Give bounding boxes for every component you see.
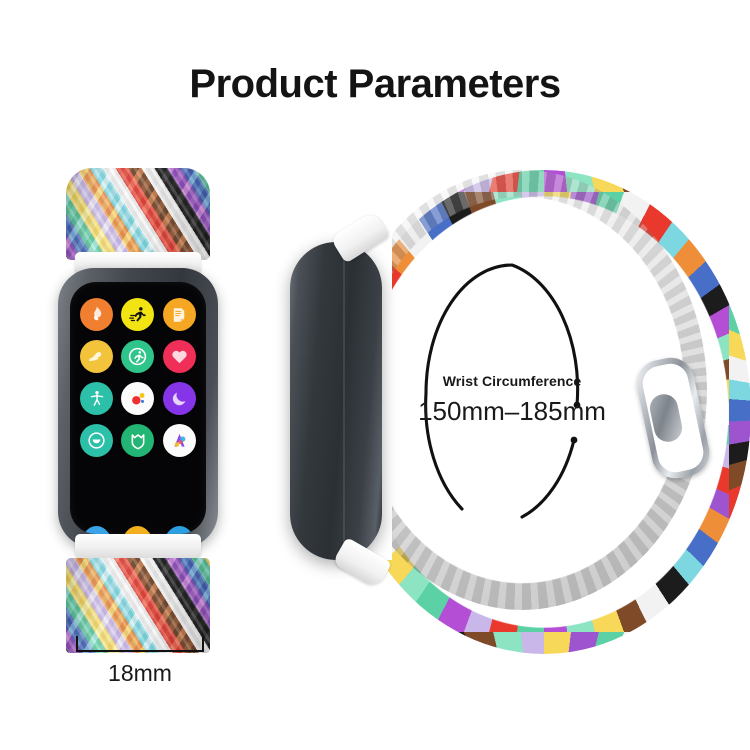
records-notes-icon[interactable] (163, 298, 196, 331)
steps-shoe-icon[interactable] (80, 340, 113, 373)
band-lug-bottom (75, 534, 201, 558)
watch-screen[interactable] (70, 282, 206, 534)
blood-oxygen-icon[interactable] (121, 382, 154, 415)
watch-side-body (290, 242, 382, 560)
stretch-figure-icon[interactable] (80, 382, 113, 415)
band-width-label: 18mm (76, 660, 204, 687)
wrist-circumference-caption: Wrist Circumference (402, 373, 622, 389)
weather-smile-icon[interactable] (80, 424, 113, 457)
band-weave-texture-layer (66, 168, 210, 260)
smartwatch-front-view (58, 168, 218, 648)
sleep-moon-icon[interactable] (163, 382, 196, 415)
heart-rate-icon[interactable] (163, 340, 196, 373)
smartwatch-side-view: Wrist Circumference 150mm–185mm (282, 150, 732, 670)
wrist-circumference-annotation: Wrist Circumference 150mm–185mm (402, 255, 622, 525)
wrist-circumference-text: Wrist Circumference 150mm–185mm (402, 373, 622, 427)
pet-shield-icon[interactable] (121, 424, 154, 457)
dock-peek-blue[interactable] (80, 526, 113, 534)
dock-peek-row (78, 526, 198, 534)
dock-peek-teal[interactable] (163, 526, 196, 534)
braided-band-upper (66, 168, 210, 260)
measure-rule (76, 650, 204, 652)
exercise-ring-icon[interactable] (121, 340, 154, 373)
band-width-measurement (76, 636, 204, 652)
app-store-icon[interactable] (163, 424, 196, 457)
product-illustration-stage: 18mm Wrist Circumference 150mm–185mm (0, 0, 750, 750)
dock-peek-yellow[interactable] (121, 526, 154, 534)
watch-case (58, 268, 218, 548)
calories-flame-icon[interactable] (80, 298, 113, 331)
app-grid (78, 298, 198, 457)
workout-runner-icon[interactable] (121, 298, 154, 331)
wrist-circumference-value: 150mm–185mm (402, 396, 622, 427)
